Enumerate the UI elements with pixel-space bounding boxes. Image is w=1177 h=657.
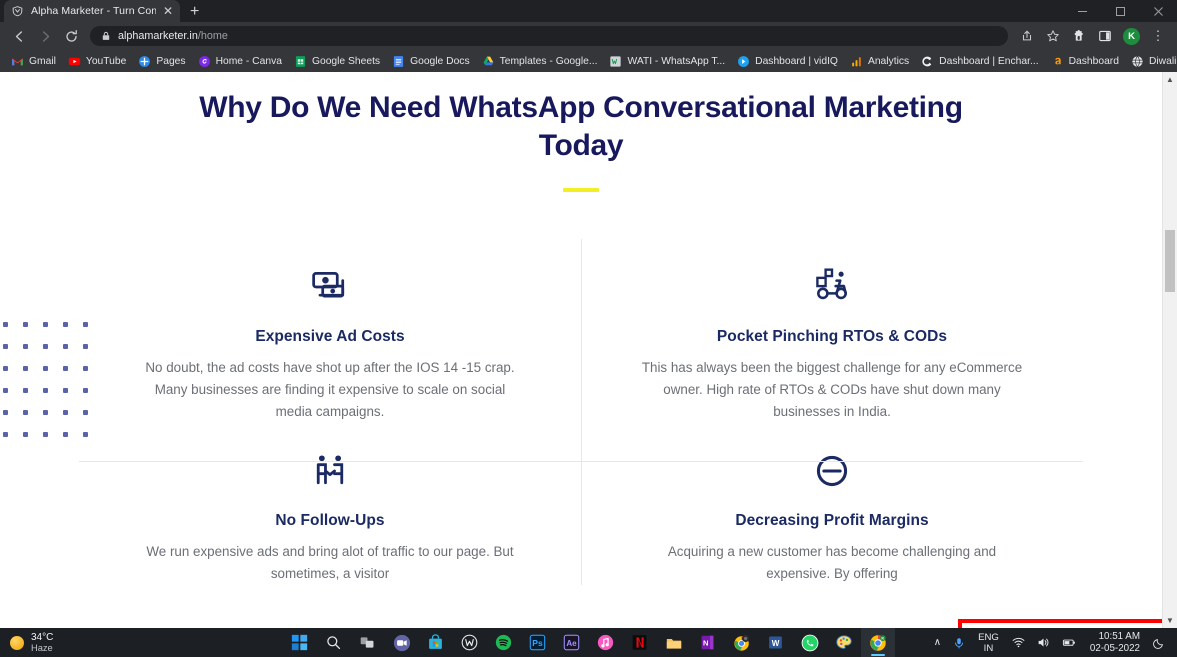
gmail-icon — [11, 55, 24, 68]
teams-icon — [393, 634, 411, 652]
close-icon[interactable]: ✕ — [163, 5, 173, 17]
svg-text:Ae: Ae — [566, 639, 577, 648]
clock-widget[interactable]: 10:51 AM 02-05-2022 — [1083, 631, 1147, 655]
language-line-2: IN — [978, 643, 999, 654]
browser-tab[interactable]: Alpha Marketer - Turn Conversati ✕ — [4, 0, 180, 22]
bookmark-label: Google Docs — [410, 56, 470, 67]
forward-button[interactable] — [32, 23, 58, 49]
weather-widget[interactable]: 34°C Haze — [0, 632, 150, 654]
tab-title: Alpha Marketer - Turn Conversati — [31, 5, 156, 17]
bookmark-analytics[interactable]: Analytics — [844, 52, 915, 70]
url-path: /home — [198, 30, 228, 42]
maximize-button[interactable] — [1101, 0, 1139, 22]
chrome-capture-button[interactable] — [725, 628, 759, 657]
writer-icon — [461, 634, 478, 651]
tray-overflow-button[interactable]: ∧ — [928, 637, 947, 648]
moon-icon[interactable] — [1147, 637, 1171, 649]
puzzle-icon[interactable] — [1066, 23, 1092, 49]
bookmark-pages[interactable]: Pages — [132, 52, 191, 70]
search-icon — [325, 634, 342, 651]
music-button[interactable] — [589, 628, 623, 657]
chrome-browser-window: Alpha Marketer - Turn Conversati ✕ + — [0, 0, 1177, 628]
scroll-down-arrow[interactable]: ▼ — [1163, 613, 1177, 628]
scrollbar-thumb[interactable] — [1165, 230, 1175, 292]
card-title: Pocket Pinching RTOs & CODs — [641, 328, 1023, 346]
encharge-icon — [921, 55, 934, 68]
card-body: No doubt, the ad costs have shot up afte… — [139, 357, 521, 423]
bookmark-label: Gmail — [29, 56, 56, 67]
bookmark-home-canva[interactable]: Home - Canva — [192, 52, 288, 70]
paint-icon — [835, 634, 853, 652]
cash-money-icon — [139, 263, 521, 311]
benefits-card-grid: Expensive Ad Costs No doubt, the ad cost… — [79, 239, 1083, 585]
google-docs-icon — [392, 55, 405, 68]
lock-icon — [101, 31, 111, 41]
bookmark-label: Pages — [156, 56, 185, 67]
language-line-1: ENG — [978, 632, 999, 643]
system-tray: ∧ ENG IN — [928, 628, 1177, 657]
canva-icon — [198, 55, 211, 68]
sun-icon — [10, 636, 24, 650]
profile-avatar[interactable]: K — [1123, 28, 1140, 45]
google-sheets-icon — [294, 55, 307, 68]
card-pocket-pinching-rtos-cods: Pocket Pinching RTOs & CODs This has alw… — [581, 239, 1083, 423]
share-icon[interactable] — [1014, 23, 1040, 49]
bookmark-gmail[interactable]: Gmail — [5, 52, 62, 70]
file-explorer-button[interactable] — [657, 628, 691, 657]
webpage-content: Why Do We Need WhatsApp Conversational M… — [0, 72, 1162, 628]
bookmark-label: Templates - Google... — [500, 56, 598, 67]
chrome-button[interactable]: K — [861, 628, 895, 657]
bookmark-google-docs[interactable]: Google Docs — [386, 52, 476, 70]
taskbar-apps: Ps Ae — [283, 628, 895, 657]
onenote-icon: N — [699, 634, 716, 651]
after-effects-button[interactable]: Ae — [555, 628, 589, 657]
word-icon: W — [767, 634, 784, 651]
amazon-icon — [1051, 55, 1064, 68]
shield-icon — [11, 5, 24, 18]
task-view-button[interactable] — [351, 628, 385, 657]
chrome-camera-icon — [733, 634, 751, 652]
page-viewport: Why Do We Need WhatsApp Conversational M… — [0, 72, 1177, 628]
title-accent-underline — [563, 188, 599, 192]
chrome-icon: K — [869, 634, 887, 652]
chrome-menu-button[interactable]: ⋮ — [1145, 23, 1171, 49]
bookmark-label: WATI - WhatsApp T... — [627, 56, 725, 67]
toolbar-actions: K ⋮ — [1014, 23, 1171, 49]
search-button[interactable] — [317, 628, 351, 657]
globe-icon — [1131, 55, 1144, 68]
mic-icon[interactable] — [947, 637, 971, 649]
wati-icon — [609, 55, 622, 68]
whatsapp-button[interactable] — [793, 628, 827, 657]
delivery-scooter-icon — [641, 263, 1023, 311]
card-body: Acquiring a new customer has become chal… — [641, 541, 1023, 585]
bookmark-dashboard-encharge[interactable]: Dashboard | Enchar... — [915, 52, 1044, 70]
tab-strip: Alpha Marketer - Turn Conversati ✕ + — [0, 0, 1177, 22]
card-title: Decreasing Profit Margins — [641, 512, 1023, 530]
bookmark-dashboard-amazon[interactable]: Dashboard — [1045, 52, 1125, 70]
task-view-icon — [359, 634, 376, 651]
weather-temperature: 34°C — [31, 632, 53, 643]
minimize-button[interactable] — [1063, 0, 1101, 22]
weather-text: 34°C Haze — [31, 632, 53, 654]
bookmark-google-sheets[interactable]: Google Sheets — [288, 52, 386, 70]
side-panel-icon[interactable] — [1092, 23, 1118, 49]
svg-text:K: K — [881, 635, 884, 640]
card-body: We run expensive ads and bring alot of t… — [139, 541, 521, 585]
weather-condition: Haze — [31, 643, 53, 654]
start-button[interactable] — [283, 628, 317, 657]
bookmark-label: Diwali Ebook — [1149, 56, 1177, 67]
store-icon — [427, 634, 444, 651]
folder-icon — [665, 634, 683, 652]
language-indicator[interactable]: ENG IN — [971, 632, 1006, 654]
bookmark-label: Home - Canva — [216, 56, 282, 67]
bookmark-diwali-ebook[interactable]: Diwali Ebook — [1125, 52, 1177, 70]
wifi-icon[interactable] — [1006, 636, 1031, 649]
browser-toolbar: alphamarketer.in/home K ⋮ — [0, 22, 1177, 50]
bookmark-label: Dashboard | vidIQ — [755, 56, 838, 67]
vidiq-icon — [737, 55, 750, 68]
bookmark-templates-google[interactable]: Templates - Google... — [476, 52, 604, 70]
card-expensive-ad-costs: Expensive Ad Costs No doubt, the ad cost… — [79, 239, 581, 423]
clock-time: 10:51 AM — [1090, 631, 1140, 643]
word-button[interactable]: W — [759, 628, 793, 657]
spotify-icon — [495, 634, 512, 651]
bookmarks-bar: Gmail YouTube Pages Home - Canva — [0, 50, 1177, 72]
paint-button[interactable] — [827, 628, 861, 657]
bookmark-label: Google Sheets — [312, 56, 380, 67]
microsoft-store-button[interactable] — [419, 628, 453, 657]
photoshop-button[interactable]: Ps — [521, 628, 555, 657]
clock-date: 02-05-2022 — [1090, 643, 1140, 655]
bookmark-label: YouTube — [86, 56, 126, 67]
page-scrollbar[interactable]: ▲ ▼ — [1162, 72, 1177, 628]
pages-icon — [138, 55, 151, 68]
card-body: This has always been the biggest challen… — [641, 357, 1023, 423]
google-drive-icon — [482, 55, 495, 68]
itunes-icon — [597, 634, 614, 651]
bookmark-dashboard-vidiq[interactable]: Dashboard | vidIQ — [731, 52, 844, 70]
address-bar-url: alphamarketer.in/home — [118, 30, 228, 42]
card-decreasing-profit-margins: Decreasing Profit Margins Acquiring a ne… — [581, 423, 1083, 585]
handshake-people-icon — [139, 447, 521, 495]
onenote-button[interactable]: N — [691, 628, 725, 657]
bookmark-wati-whatsapp[interactable]: WATI - WhatsApp T... — [603, 52, 731, 70]
star-icon[interactable] — [1040, 23, 1066, 49]
card-no-follow-ups: No Follow-Ups We run expensive ads and b… — [79, 423, 581, 585]
bookmark-youtube[interactable]: YouTube — [62, 52, 132, 70]
bookmark-label: Dashboard — [1069, 56, 1119, 67]
netflix-button[interactable] — [623, 628, 657, 657]
address-bar[interactable]: alphamarketer.in/home — [90, 26, 1008, 46]
svg-text:W: W — [772, 639, 780, 648]
spotify-button[interactable] — [487, 628, 521, 657]
teams-button[interactable] — [385, 628, 419, 657]
svg-text:Ps: Ps — [532, 638, 543, 648]
youtube-icon — [68, 55, 81, 68]
bookmark-label: Analytics — [868, 56, 909, 67]
photoshop-icon: Ps — [529, 634, 546, 651]
card-title: No Follow-Ups — [139, 512, 521, 530]
windows-icon — [291, 634, 308, 651]
grid-horizontal-divider — [79, 461, 1083, 462]
windows-taskbar: 34°C Haze — [0, 628, 1177, 657]
netflix-icon — [631, 634, 648, 651]
card-title: Expensive Ad Costs — [139, 328, 521, 346]
writer-button[interactable] — [453, 628, 487, 657]
whatsapp-icon — [801, 634, 819, 652]
scroll-up-arrow[interactable]: ▲ — [1163, 72, 1177, 87]
back-button[interactable] — [6, 23, 32, 49]
minus-circle-icon — [641, 447, 1023, 495]
svg-text:N: N — [703, 638, 709, 647]
window-controls — [1063, 0, 1177, 22]
battery-icon[interactable] — [1056, 636, 1083, 649]
analytics-icon — [850, 55, 863, 68]
new-tab-button[interactable]: + — [190, 4, 199, 20]
reload-button[interactable] — [58, 23, 84, 49]
close-button[interactable] — [1139, 0, 1177, 22]
after-effects-icon: Ae — [563, 634, 580, 651]
page-title: Why Do We Need WhatsApp Conversational M… — [0, 89, 1162, 165]
grid-vertical-divider — [581, 239, 582, 585]
url-domain: alphamarketer.in — [118, 30, 198, 42]
speaker-icon[interactable] — [1031, 636, 1056, 649]
bookmark-label: Dashboard | Enchar... — [939, 56, 1038, 67]
annotation-highlight-box: Chat With Alpha Bot — [958, 619, 1169, 628]
